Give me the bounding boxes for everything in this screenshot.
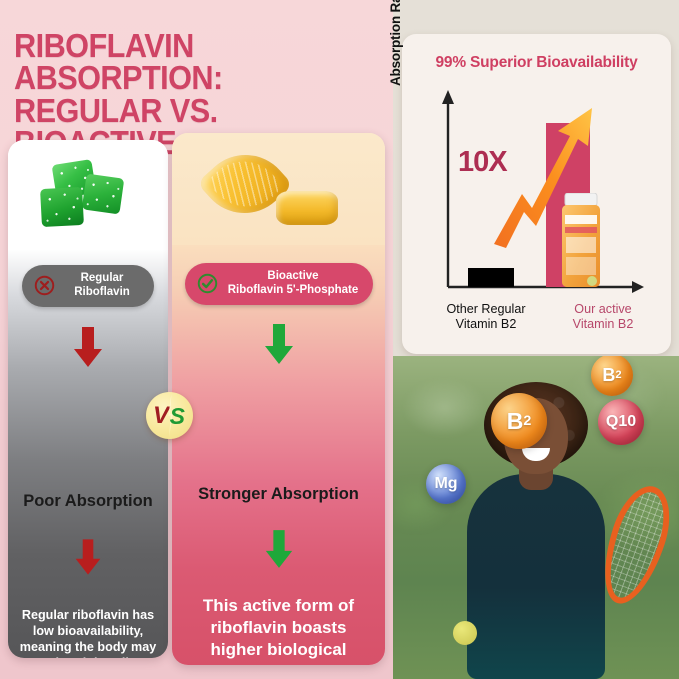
chart-category-label-ours: Our active Vitamin B2 bbox=[548, 302, 658, 332]
x-circle-icon bbox=[34, 275, 55, 296]
vs-letter-s: S bbox=[170, 403, 185, 430]
chart-category-label-other: Other Regular Vitamin B2 bbox=[430, 302, 542, 332]
chart-y-axis-label: Absorption Rate bbox=[388, 0, 403, 86]
vs-letter-v: V bbox=[153, 402, 169, 430]
chart-title: 99% Superior Bioavailability bbox=[402, 54, 671, 72]
badge-bioactive-label: Bioactive Riboflavin 5'-Phosphate bbox=[225, 270, 361, 298]
chart-panel: 99% Superior Bioavailability Absorption … bbox=[402, 34, 671, 354]
down-arrow-icon bbox=[73, 538, 103, 576]
bubble-mg: Mg bbox=[426, 464, 466, 504]
badge-regular-riboflavin: Regular Riboflavin bbox=[22, 265, 154, 307]
headline-stronger-absorption: Stronger Absorption bbox=[172, 485, 385, 504]
down-arrow-icon bbox=[262, 323, 296, 365]
bubble-b2-small: B2 bbox=[591, 356, 633, 396]
infographic-root: RIBOFLAVIN ABSORPTION: REGULAR VS. BIOAC… bbox=[0, 0, 679, 679]
bubble-q10: Q10 bbox=[598, 399, 644, 445]
bubble-b2-large: B2 bbox=[491, 393, 547, 449]
card-regular-riboflavin: Regular Riboflavin Poor Absorption Regul… bbox=[8, 140, 168, 658]
down-arrow-icon bbox=[263, 529, 295, 569]
tennis-ball bbox=[453, 621, 477, 645]
title-line-1: RIBOFLAVIN ABSORPTION: bbox=[14, 27, 223, 96]
vitamin-b2-bottle-image bbox=[558, 193, 604, 289]
orange-gummy-image bbox=[172, 133, 385, 245]
bar-other-regular-vitamin-b2 bbox=[468, 268, 514, 287]
person-torso bbox=[467, 474, 605, 679]
body-text-bioactive: This active form of riboflavin boasts hi… bbox=[172, 595, 385, 665]
chart-plot-area: 10X bbox=[440, 84, 654, 297]
headline-poor-absorption: Poor Absorption bbox=[8, 492, 168, 511]
badge-regular-label: Regular Riboflavin bbox=[62, 272, 142, 300]
gummy-cube-icon bbox=[40, 187, 84, 227]
check-circle-icon bbox=[197, 273, 218, 294]
green-gummy-image bbox=[8, 140, 168, 250]
gummy-cube-icon bbox=[82, 174, 125, 215]
down-arrow-icon bbox=[71, 326, 105, 368]
body-text-regular: Regular riboflavin has low bioavailabili… bbox=[8, 608, 168, 658]
vs-badge: V S bbox=[146, 392, 193, 439]
card-bioactive-riboflavin: Bioactive Riboflavin 5'-Phosphate Strong… bbox=[172, 133, 385, 665]
lifestyle-photo: B2 B2 Q10 Mg bbox=[393, 356, 679, 679]
disc-gummy-icon bbox=[276, 191, 338, 225]
badge-bioactive-riboflavin: Bioactive Riboflavin 5'-Phosphate bbox=[185, 263, 373, 305]
